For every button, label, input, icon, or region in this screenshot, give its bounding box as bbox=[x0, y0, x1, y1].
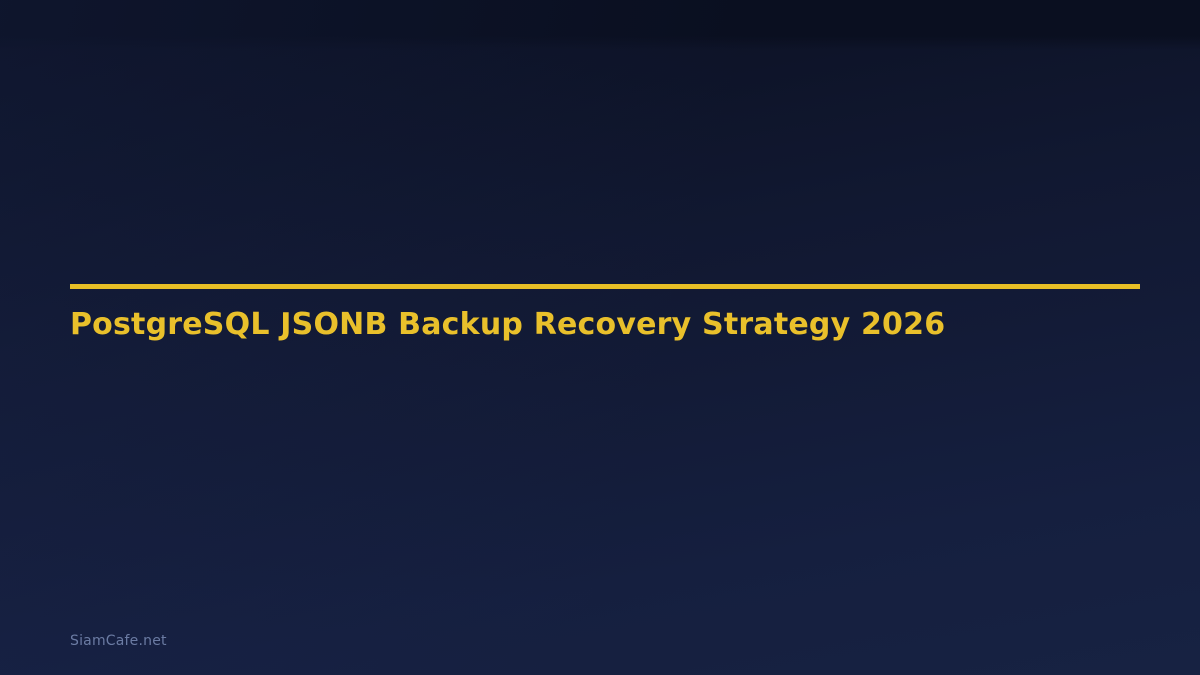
title-block: PostgreSQL JSONB Backup Recovery Strateg… bbox=[70, 284, 1140, 342]
footer: SiamCafe.net bbox=[70, 630, 167, 649]
footer-brand-label: SiamCafe.net bbox=[70, 633, 167, 649]
page-title: PostgreSQL JSONB Backup Recovery Strateg… bbox=[70, 289, 1140, 342]
title-slide: PostgreSQL JSONB Backup Recovery Strateg… bbox=[0, 0, 1200, 675]
top-band bbox=[0, 0, 1200, 50]
